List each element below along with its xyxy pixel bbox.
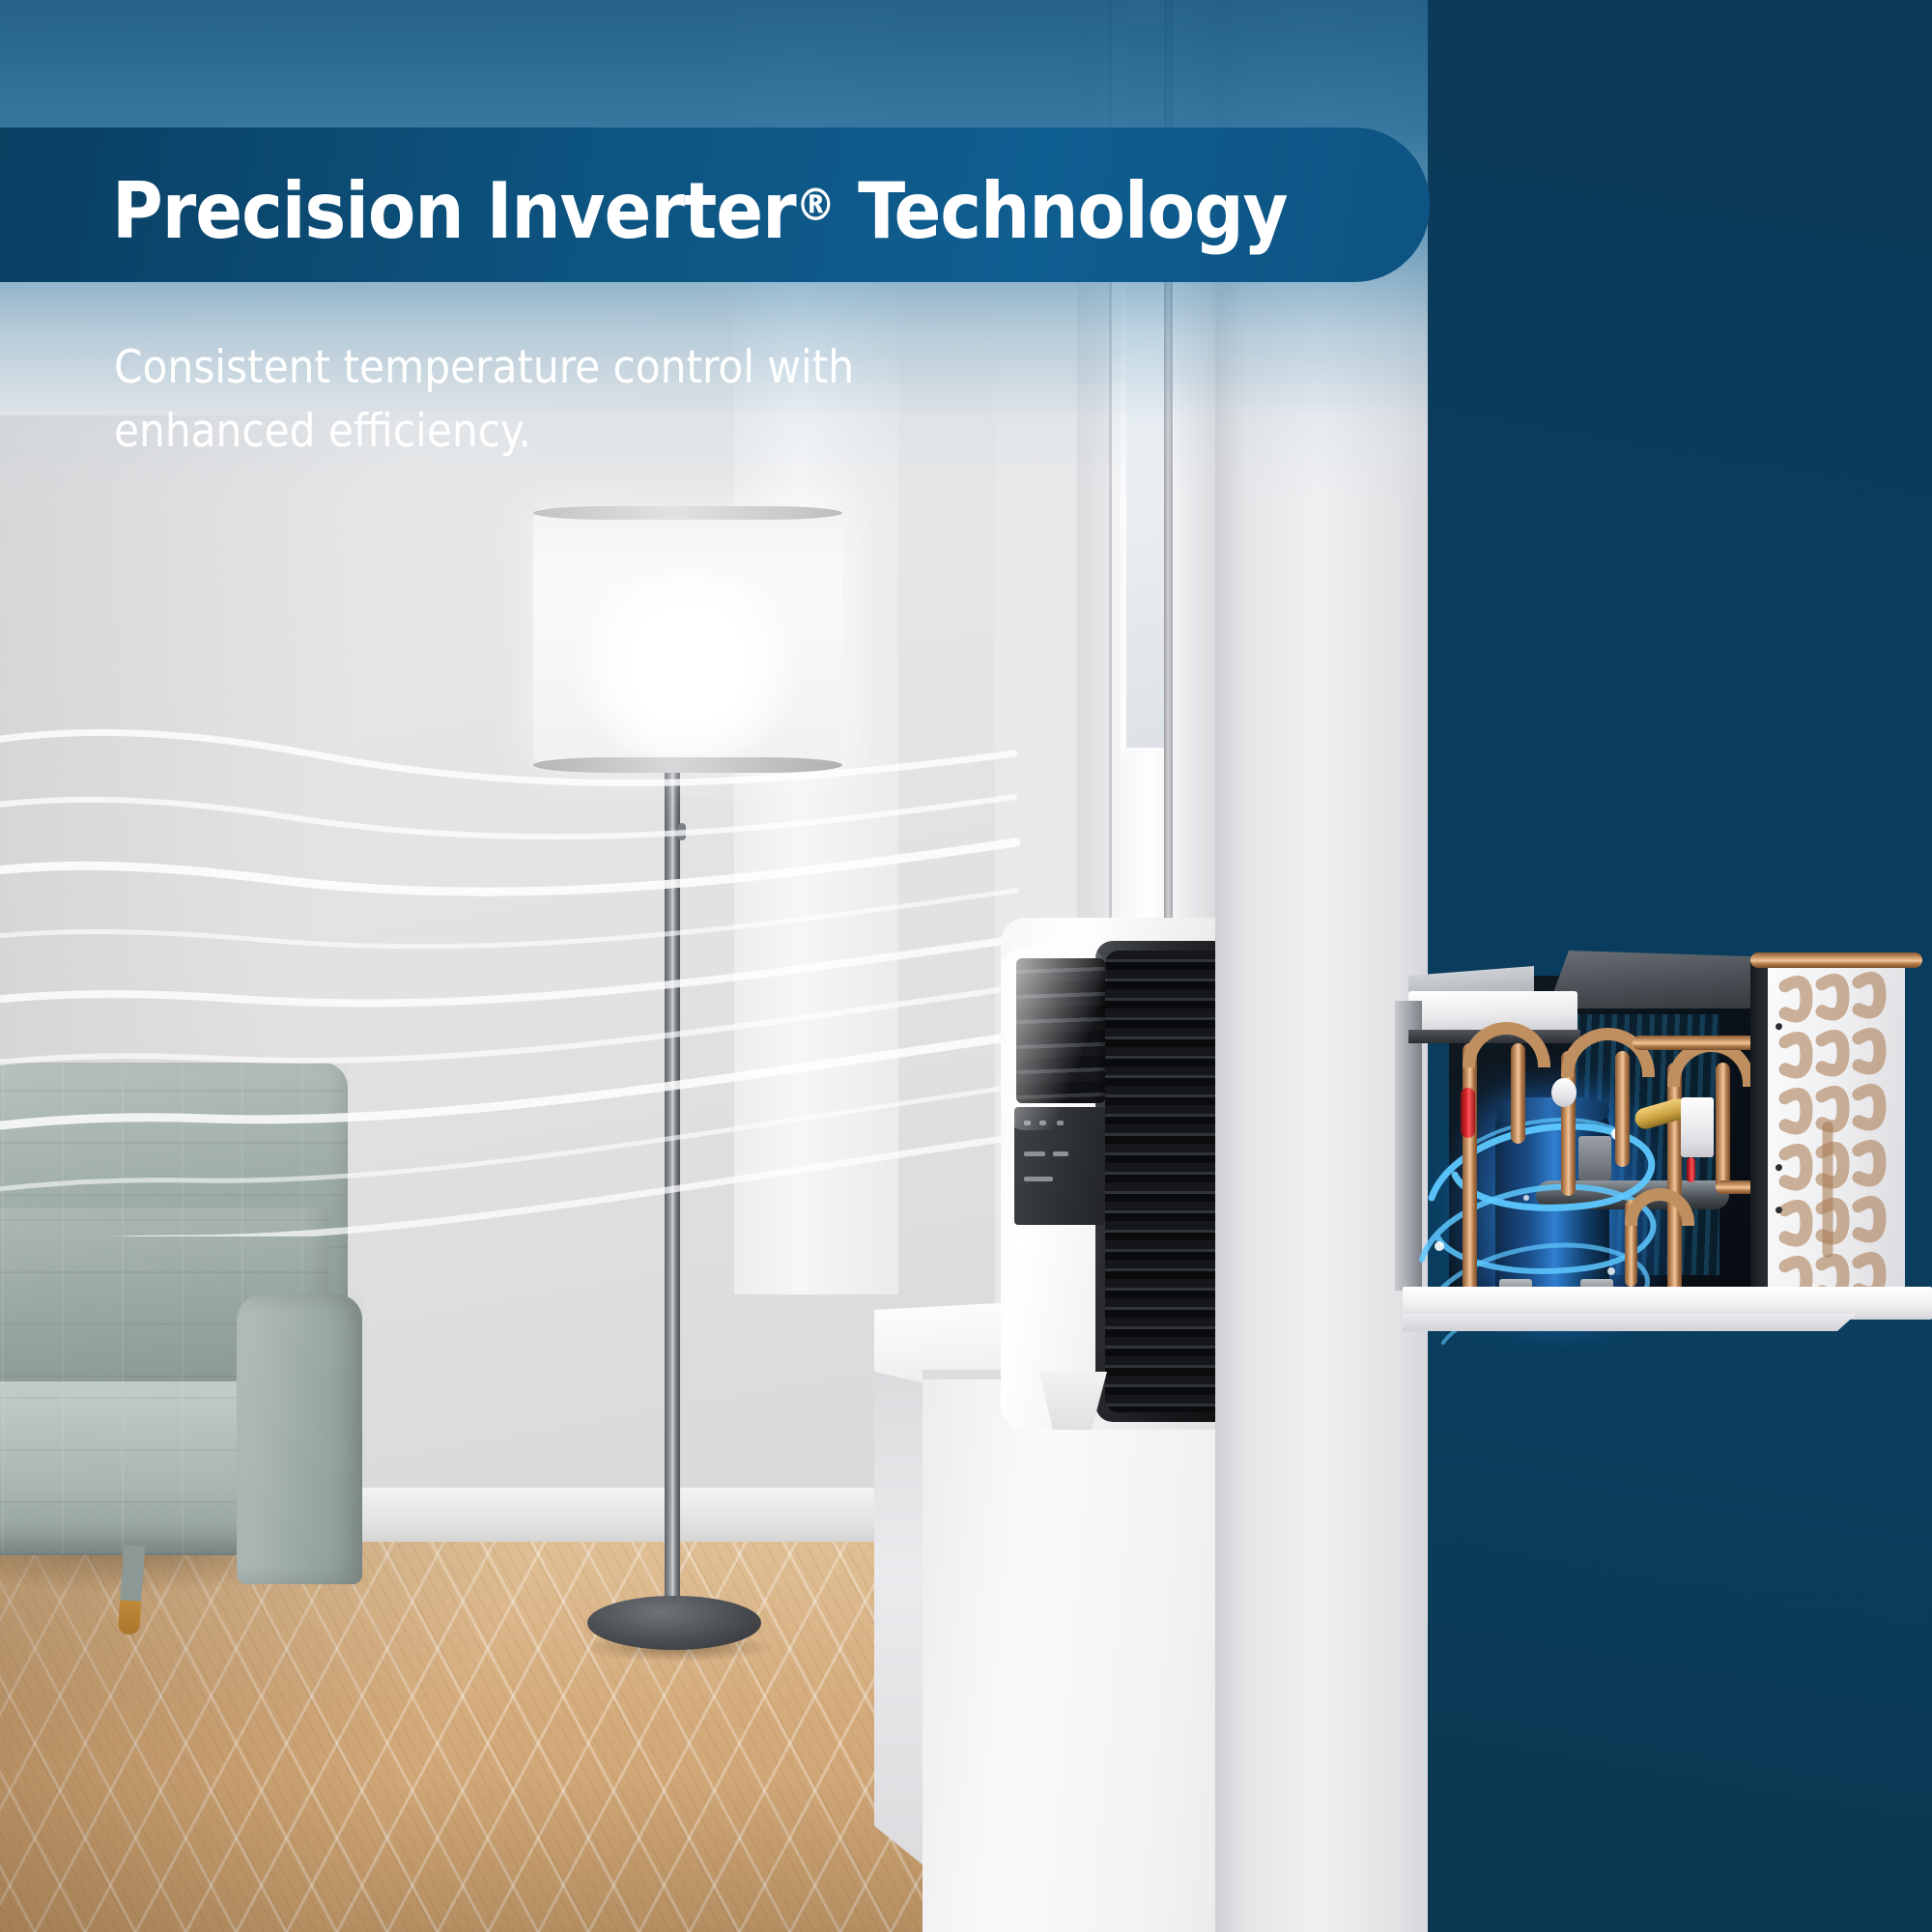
coil-return-bends xyxy=(1768,958,1905,1305)
lamp-shade-rim-top xyxy=(533,506,842,520)
condenser-unit xyxy=(1391,908,1932,1362)
lamp-switch xyxy=(678,823,686,840)
service-valve-cap xyxy=(1687,1157,1695,1182)
copper-header-pipe xyxy=(1750,952,1922,968)
wood-floor xyxy=(0,1542,976,1932)
electrical-box xyxy=(1681,1097,1714,1157)
marketing-image: Precision Inverter® Technology Consisten… xyxy=(0,0,1932,1932)
terminal-block xyxy=(1578,1136,1611,1180)
condenser-base-lip xyxy=(1403,1314,1857,1331)
ac-indicator-led xyxy=(1024,1177,1053,1181)
lamp-glow xyxy=(566,570,808,763)
lamp-shade-rim-bottom xyxy=(533,757,842,773)
ac-indicator-led xyxy=(1053,1151,1068,1156)
sofa-armrest xyxy=(237,1294,362,1584)
subtitle-line-2: enhanced efficiency. xyxy=(114,400,983,464)
title-main-text: Precision Inverter xyxy=(112,166,796,256)
subtitle-line-1: Consistent temperature control with xyxy=(114,336,983,400)
sofa xyxy=(0,1063,425,1565)
ac-indoor-unit xyxy=(1001,918,1233,1430)
condenser-coil-plate xyxy=(1768,958,1905,1305)
floor-shading xyxy=(0,1542,976,1932)
lamp-pole xyxy=(665,769,680,1619)
ac-indicator-led xyxy=(1024,1151,1045,1156)
title-tail-text: Technology xyxy=(835,166,1288,256)
service-valve-cap xyxy=(1461,1088,1475,1138)
ac-highlight xyxy=(1001,947,1107,1130)
subtitle: Consistent temperature control with enha… xyxy=(114,336,983,464)
copper-pipe xyxy=(1667,1063,1682,1293)
copper-pipe xyxy=(1463,1043,1477,1296)
registered-trademark-icon: ® xyxy=(796,179,835,231)
coil-side-edge xyxy=(1750,957,1770,1302)
ac-vent-grille xyxy=(1105,951,1233,1412)
lamp-base xyxy=(587,1596,761,1650)
sofa-fabric-texture xyxy=(237,1294,362,1584)
sensor-cap xyxy=(1551,1078,1577,1107)
page-title: Precision Inverter® Technology xyxy=(112,147,1349,270)
